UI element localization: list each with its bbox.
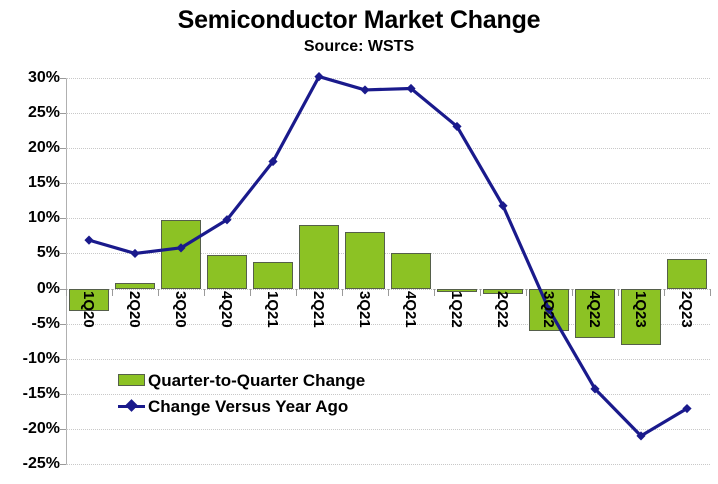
y-axis-tick-label: 15% xyxy=(0,174,60,192)
x-axis-label-3Q21: 3Q21 xyxy=(356,291,373,328)
legend-label-quarter-to-quarter: Quarter-to-Quarter Change xyxy=(148,368,365,393)
x-axis-tick-mark xyxy=(66,289,67,296)
y-axis-tick-mark xyxy=(59,113,66,114)
y-axis-tick-label: 10% xyxy=(0,209,60,227)
x-axis-tick-mark xyxy=(526,289,527,296)
chart-container: Semiconductor Market Change Source: WSTS… xyxy=(0,0,718,484)
y-axis-tick-mark xyxy=(59,464,66,465)
y-axis-tick-label: 0% xyxy=(0,280,60,298)
bar-4Q20 xyxy=(207,255,247,289)
x-axis-tick-mark xyxy=(434,289,435,296)
x-axis-label-3Q22: 3Q22 xyxy=(540,291,557,328)
x-axis-tick-mark xyxy=(710,289,711,296)
x-axis-label-2Q23: 2Q23 xyxy=(678,291,695,328)
bar-2Q20 xyxy=(115,283,155,289)
y-axis-tick-mark xyxy=(59,78,66,79)
y-axis-tick-label: 20% xyxy=(0,139,60,157)
y-axis-tick-label: 30% xyxy=(0,69,60,87)
bar-3Q21 xyxy=(345,232,385,289)
x-axis-label-1Q20: 1Q20 xyxy=(80,291,97,328)
bar-2Q23 xyxy=(667,259,707,288)
chart-subtitle: Source: WSTS xyxy=(0,38,718,56)
y-axis-tick-mark xyxy=(59,218,66,219)
x-axis-label-4Q20: 4Q20 xyxy=(218,291,235,328)
y-axis-tick-mark xyxy=(59,429,66,430)
x-axis-label-1Q23: 1Q23 xyxy=(632,291,649,328)
y-axis-tick-label: -10% xyxy=(0,350,60,368)
gridline xyxy=(66,464,710,465)
x-axis-tick-mark xyxy=(296,289,297,296)
y-axis-tick-label: -25% xyxy=(0,455,60,473)
y-axis-tick-mark xyxy=(59,289,66,290)
chart-title: Semiconductor Market Change xyxy=(0,6,718,35)
x-axis-label-3Q20: 3Q20 xyxy=(172,291,189,328)
x-axis-label-4Q22: 4Q22 xyxy=(586,291,603,328)
x-axis-tick-mark xyxy=(158,289,159,296)
bar-1Q21 xyxy=(253,262,293,289)
x-axis-tick-mark xyxy=(572,289,573,296)
x-axis-tick-mark xyxy=(480,289,481,296)
y-axis-tick-label: -20% xyxy=(0,420,60,438)
x-axis-tick-mark xyxy=(250,289,251,296)
x-axis-tick-mark xyxy=(342,289,343,296)
y-axis-tick-mark xyxy=(59,253,66,254)
y-axis-tick-label: -15% xyxy=(0,385,60,403)
bar-2Q21 xyxy=(299,225,339,289)
bar-4Q21 xyxy=(391,253,431,288)
x-axis-label-1Q21: 1Q21 xyxy=(264,291,281,328)
x-axis-label-2Q21: 2Q21 xyxy=(310,291,327,328)
legend-bar-swatch-icon xyxy=(118,374,145,386)
y-axis-tick-label: 25% xyxy=(0,104,60,122)
x-axis-label-1Q22: 1Q22 xyxy=(448,291,465,328)
x-axis-tick-mark xyxy=(112,289,113,296)
x-axis-label-2Q22: 2Q22 xyxy=(494,291,511,328)
y-axis-tick-label: 5% xyxy=(0,244,60,262)
legend-line-swatch-icon xyxy=(118,405,145,408)
y-axis-tick-mark xyxy=(59,148,66,149)
x-axis-label-4Q21: 4Q21 xyxy=(402,291,419,328)
y-axis-tick-mark xyxy=(59,394,66,395)
x-axis-tick-mark xyxy=(618,289,619,296)
y-axis-labels: 30%25%20%15%10%5%0%-5%-10%-15%-20%-25% xyxy=(0,78,60,464)
x-axis-tick-mark xyxy=(664,289,665,296)
y-axis-tick-mark xyxy=(59,324,66,325)
legend-label-year-ago: Change Versus Year Ago xyxy=(148,394,348,419)
y-axis-tick-mark xyxy=(59,183,66,184)
x-axis-tick-mark xyxy=(204,289,205,296)
x-axis-tick-mark xyxy=(388,289,389,296)
y-axis-tick-label: -5% xyxy=(0,315,60,333)
y-axis-tick-mark xyxy=(59,359,66,360)
bar-3Q20 xyxy=(161,220,201,288)
x-axis-label-2Q20: 2Q20 xyxy=(126,291,143,328)
